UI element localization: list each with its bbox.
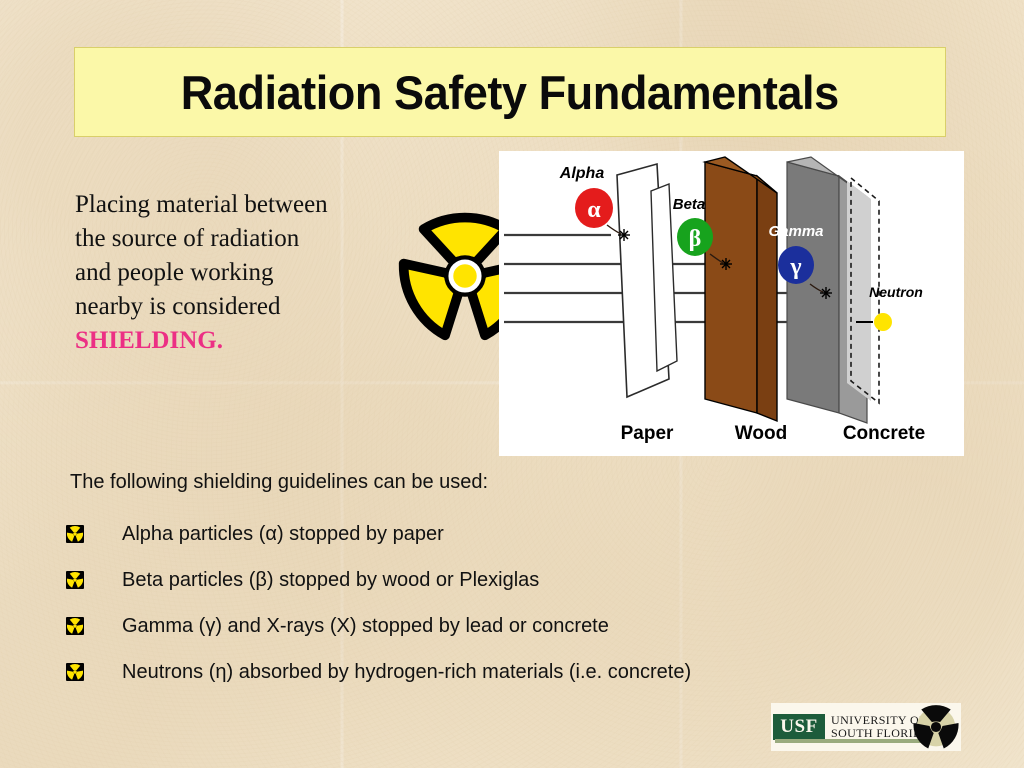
title-banner: Radiation Safety Fundamentals	[74, 47, 946, 137]
radiation-trefoil-icon	[66, 525, 84, 543]
list-item-label: Neutrons (η) absorbed by hydrogen-rich m…	[122, 661, 691, 684]
intro-line-1: Placing material between	[75, 191, 328, 218]
intro-line-3: and people working	[75, 259, 274, 286]
concrete-slab	[787, 157, 879, 423]
material-label-paper: Paper	[621, 423, 674, 444]
paper-sheet	[617, 164, 677, 397]
list-item: Gamma (γ) and X-rays (X) stopped by lead…	[66, 603, 946, 649]
intro-paragraph: Placing material between the source of r…	[75, 188, 425, 358]
radiation-trefoil-icon	[913, 704, 959, 750]
radiation-trefoil-icon	[66, 617, 84, 635]
wood-slab	[705, 157, 777, 421]
svg-text:Beta: Beta	[673, 196, 706, 213]
shielding-emphasis: SHIELDING.	[75, 327, 223, 354]
guidelines-list: Alpha particles (α) stopped by paper Bet…	[66, 511, 946, 695]
radiation-trefoil-icon	[66, 571, 84, 589]
list-item: Beta particles (β) stopped by wood or Pl…	[66, 557, 946, 603]
svg-text:γ: γ	[789, 254, 801, 280]
usf-logo: USF UNIVERSITY OF SOUTH FLORIDA.	[771, 703, 961, 751]
list-item-label: Beta particles (β) stopped by wood or Pl…	[122, 569, 539, 592]
intro-line-2: the source of radiation	[75, 225, 299, 252]
usf-divider	[775, 739, 927, 743]
material-label-wood: Wood	[735, 423, 787, 444]
svg-text:Alpha: Alpha	[559, 165, 605, 182]
list-item-label: Alpha particles (α) stopped by paper	[122, 523, 444, 546]
svg-text:Gamma: Gamma	[768, 223, 823, 240]
material-label-concrete: Concrete	[843, 423, 925, 444]
list-item-label: Gamma (γ) and X-rays (X) stopped by lead…	[122, 615, 609, 638]
guidelines-lead: The following shielding guidelines can b…	[70, 471, 488, 494]
list-item: Alpha particles (α) stopped by paper	[66, 511, 946, 557]
list-item: Neutrons (η) absorbed by hydrogen-rich m…	[66, 649, 946, 695]
shielding-diagram: Alpha α Beta β Gamma γ Neutron Paper Woo…	[499, 151, 964, 456]
svg-text:α: α	[587, 197, 601, 223]
radiation-trefoil-icon	[66, 663, 84, 681]
svg-text:Neutron: Neutron	[869, 284, 923, 300]
intro-line-4: nearby is considered	[75, 293, 280, 320]
page-title: Radiation Safety Fundamentals	[181, 65, 839, 120]
usf-wordmark-label: USF	[780, 716, 817, 738]
usf-wordmark: USF	[773, 714, 825, 740]
svg-text:β: β	[689, 226, 702, 252]
